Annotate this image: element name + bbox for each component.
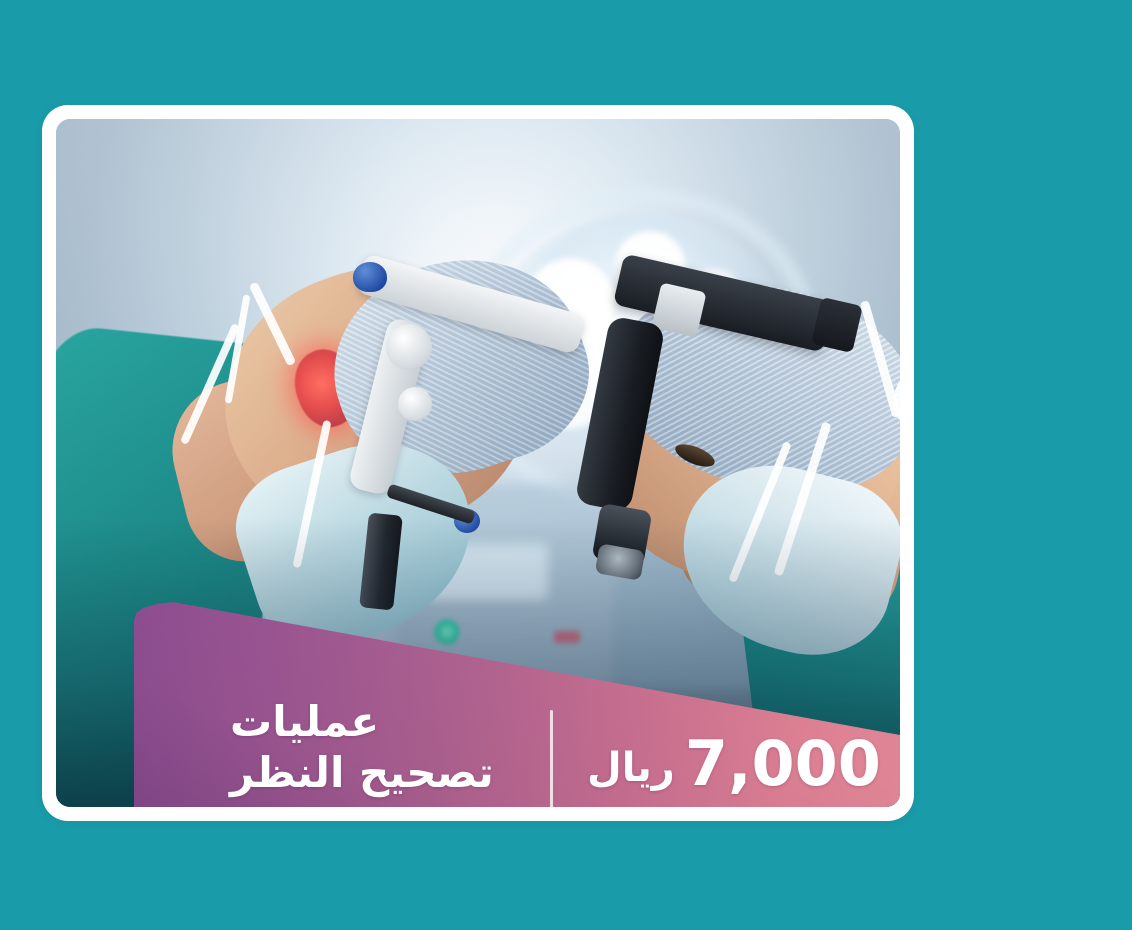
card-frame: عمليات تصحيح النظر 7,000ريال شاملة الاست… — [42, 105, 914, 821]
monitor-green-light-icon — [434, 619, 460, 645]
vertical-divider — [550, 710, 553, 807]
promo-headline-line2: تصحيح النظر — [230, 747, 560, 798]
promo-headline: عمليات تصحيح النظر — [230, 696, 560, 798]
hero-photo: عمليات تصحيح النظر 7,000ريال شاملة الاست… — [56, 119, 900, 807]
left-headlamp-knob — [386, 324, 432, 370]
price-amount: 7,000 — [685, 727, 881, 800]
price-currency: ريال — [587, 745, 675, 791]
promo-headline-line1: عمليات — [230, 696, 560, 747]
price-block: 7,000ريال شاملة الاستشارة والفحص — [574, 731, 894, 807]
price-row: 7,000ريال — [574, 731, 894, 797]
left-headlamp-knob — [398, 387, 432, 421]
monitor-red-light-icon — [554, 631, 580, 643]
left-headlamp-blue-cap — [353, 262, 387, 292]
promo-stage: عمليات تصحيح النظر 7,000ريال شاملة الاست… — [0, 0, 1132, 930]
